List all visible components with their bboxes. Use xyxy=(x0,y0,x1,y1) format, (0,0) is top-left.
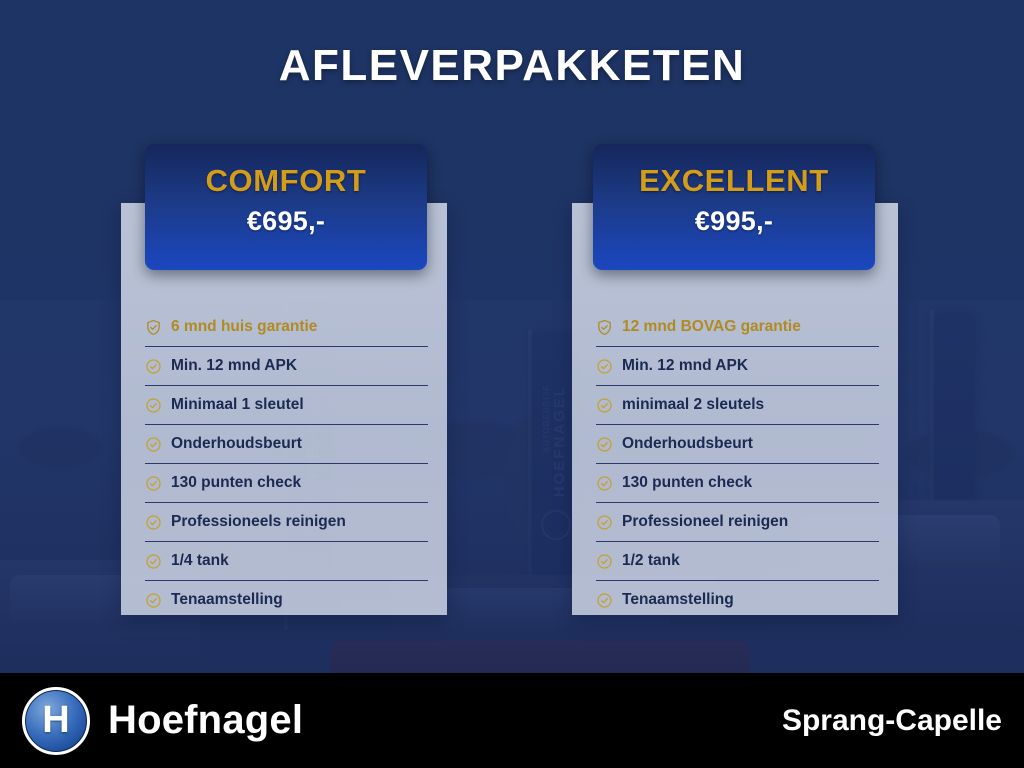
feature-row: 12 mnd BOVAG garantie xyxy=(596,308,879,347)
circle-check-icon xyxy=(145,436,162,453)
package-name: EXCELLENT xyxy=(593,163,875,199)
brand-name: Hoefnagel xyxy=(108,698,303,743)
circle-check-icon xyxy=(145,358,162,375)
package-price: €695,- xyxy=(145,206,427,237)
feature-row: minimaal 2 sleutels xyxy=(596,386,879,425)
feature-label: Minimaal 1 sleutel xyxy=(171,396,304,414)
feature-label: minimaal 2 sleutels xyxy=(622,396,764,414)
package-name: COMFORT xyxy=(145,163,427,199)
circle-check-icon xyxy=(145,592,162,609)
feature-label: Professioneel reinigen xyxy=(622,513,788,531)
feature-row: Tenaamstelling xyxy=(596,581,879,619)
feature-row: Professioneel reinigen xyxy=(596,503,879,542)
shield-check-icon xyxy=(596,319,613,336)
package-header-excellent: EXCELLENT €995,- xyxy=(593,144,875,270)
feature-row: 130 punten check xyxy=(145,464,428,503)
feature-label: 1/2 tank xyxy=(622,552,680,570)
circle-check-icon xyxy=(145,514,162,531)
feature-row: 130 punten check xyxy=(596,464,879,503)
feature-label: 12 mnd BOVAG garantie xyxy=(622,318,801,336)
feature-label: Onderhoudsbeurt xyxy=(622,435,753,453)
feature-row: Professioneels reinigen xyxy=(145,503,428,542)
feature-row: 1/2 tank xyxy=(596,542,879,581)
package-price: €995,- xyxy=(593,206,875,237)
feature-label: 1/4 tank xyxy=(171,552,229,570)
feature-row: 6 mnd huis garantie xyxy=(145,308,428,347)
shield-check-icon xyxy=(145,319,162,336)
footer-bar: H Hoefnagel Sprang-Capelle xyxy=(0,673,1024,768)
circle-check-icon xyxy=(596,514,613,531)
brand-block: H Hoefnagel xyxy=(22,687,303,755)
logo-letter: H xyxy=(42,701,69,739)
feature-row: Min. 12 mnd APK xyxy=(145,347,428,386)
feature-label: 130 punten check xyxy=(171,474,301,492)
feature-row: 1/4 tank xyxy=(145,542,428,581)
circle-check-icon xyxy=(596,358,613,375)
circle-check-icon xyxy=(145,475,162,492)
feature-label: Min. 12 mnd APK xyxy=(171,357,297,375)
hoefnagel-logo-icon: H xyxy=(22,687,90,755)
location-label: Sprang-Capelle xyxy=(782,704,1002,738)
package-header-comfort: COMFORT €695,- xyxy=(145,144,427,270)
feature-row: Min. 12 mnd APK xyxy=(596,347,879,386)
circle-check-icon xyxy=(596,553,613,570)
circle-check-icon xyxy=(596,397,613,414)
circle-check-icon xyxy=(145,553,162,570)
circle-check-icon xyxy=(596,436,613,453)
feature-list-comfort: 6 mnd huis garantie Min. 12 mnd APK Mini… xyxy=(145,308,428,619)
circle-check-icon xyxy=(145,397,162,414)
feature-list-excellent: 12 mnd BOVAG garantie Min. 12 mnd APK mi… xyxy=(596,308,879,619)
feature-row: Tenaamstelling xyxy=(145,581,428,619)
feature-row: Onderhoudsbeurt xyxy=(596,425,879,464)
feature-label: Onderhoudsbeurt xyxy=(171,435,302,453)
circle-check-icon xyxy=(596,475,613,492)
circle-check-icon xyxy=(596,592,613,609)
feature-label: Tenaamstelling xyxy=(622,591,734,609)
poster-root: HOEFNAGEL AUTOBEDRIJF HOEFNAGEL AUTOBEDR… xyxy=(0,0,1024,768)
feature-label: 130 punten check xyxy=(622,474,752,492)
feature-label: 6 mnd huis garantie xyxy=(171,318,317,336)
page-title: AFLEVERPAKKETEN xyxy=(0,41,1024,91)
feature-row: Onderhoudsbeurt xyxy=(145,425,428,464)
feature-label: Tenaamstelling xyxy=(171,591,283,609)
feature-row: Minimaal 1 sleutel xyxy=(145,386,428,425)
feature-label: Min. 12 mnd APK xyxy=(622,357,748,375)
feature-label: Professioneels reinigen xyxy=(171,513,346,531)
